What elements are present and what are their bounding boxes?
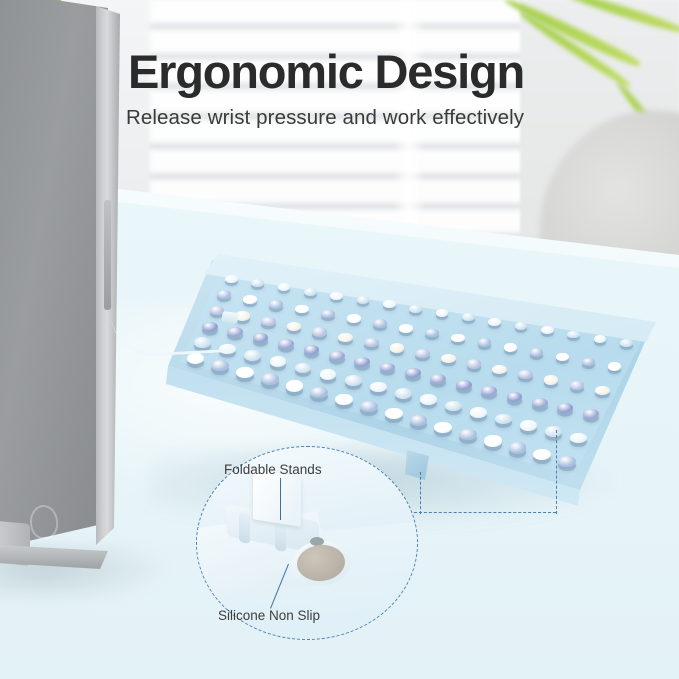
keycap-top <box>541 326 554 334</box>
keycap-top <box>544 375 559 384</box>
keycap <box>507 392 523 402</box>
monitor-vent <box>104 200 111 310</box>
keycap <box>544 375 559 384</box>
callout-stand-notch-left <box>239 512 250 544</box>
keycap-top <box>509 442 527 453</box>
keycap-top <box>594 335 607 343</box>
keycap-top <box>409 305 422 313</box>
keycap-top <box>385 408 403 419</box>
callout-label-silicone-non-slip: Silicone Non Slip <box>218 608 320 623</box>
keycap <box>532 398 548 408</box>
keycap <box>278 339 294 349</box>
keycap <box>347 314 361 323</box>
keycap-top <box>481 386 497 396</box>
keycap-top <box>211 360 229 371</box>
keycap <box>236 367 254 378</box>
keycap <box>395 388 412 399</box>
keycap-top <box>459 429 477 440</box>
keycap-top <box>261 317 276 326</box>
keycap <box>321 310 335 319</box>
keycap-top <box>518 370 533 379</box>
keycap-top <box>620 339 633 347</box>
keycap <box>434 422 452 433</box>
keycap-top <box>478 338 492 347</box>
keycap-top <box>515 322 528 330</box>
keycap <box>211 360 229 371</box>
keycap <box>518 370 533 379</box>
keycap <box>484 435 502 446</box>
product-image-scene: Ergonomic Design Release wrist pressure … <box>0 0 679 679</box>
keycap <box>364 338 379 347</box>
keycap <box>620 339 633 347</box>
keycap <box>436 309 449 317</box>
leader-line-foldable-stands <box>280 478 281 520</box>
keycap-top <box>354 357 370 367</box>
keycap <box>441 354 456 363</box>
keycap-top <box>329 351 345 361</box>
keycap-top <box>312 327 327 336</box>
keycap-top <box>470 407 487 418</box>
keycap-top <box>304 345 320 355</box>
keycap-top <box>251 279 264 287</box>
keycap <box>492 365 507 374</box>
keycap-top <box>415 349 430 358</box>
keycap <box>570 381 585 390</box>
keycap <box>399 324 413 333</box>
keycap <box>261 317 276 326</box>
keycap <box>462 313 475 321</box>
keycap-top <box>507 392 523 402</box>
keycap-top <box>570 381 585 390</box>
keycap-top <box>370 382 387 393</box>
keycap-top <box>217 290 231 299</box>
keycap-top <box>495 414 512 425</box>
keycap-top <box>462 313 475 321</box>
keycap-top <box>420 394 437 405</box>
keycap <box>251 279 264 287</box>
keycap-top <box>399 324 413 333</box>
cable-connector <box>221 311 238 324</box>
keycap-top <box>330 292 343 300</box>
keycap <box>360 401 378 412</box>
keycap <box>304 345 320 355</box>
page-subtitle: Release wrist pressure and work effectiv… <box>126 106 524 130</box>
keycap-top <box>395 388 412 399</box>
keycap <box>304 288 317 296</box>
keycap-top <box>373 319 387 328</box>
keycap-top <box>488 318 501 326</box>
keycap-top <box>236 367 254 378</box>
keycap <box>545 426 562 437</box>
foldable-stand <box>253 469 301 527</box>
keycap-top <box>244 350 261 361</box>
keycap-top <box>492 365 507 374</box>
keycap <box>595 386 610 395</box>
keycap-top <box>286 380 304 391</box>
keycap-top <box>595 386 610 395</box>
page-title: Ergonomic Design <box>128 44 524 99</box>
keycap <box>270 356 287 367</box>
keycap-top <box>243 295 257 304</box>
keycap-top <box>320 369 337 380</box>
keycap-top <box>321 310 335 319</box>
keycap <box>541 326 554 334</box>
keycap-top <box>532 398 548 408</box>
keycap <box>243 295 257 304</box>
keycap-top <box>410 415 428 426</box>
keycap-top <box>520 420 537 431</box>
keycap <box>320 369 337 380</box>
keycap-top <box>441 354 456 363</box>
keycap-top <box>261 373 279 384</box>
keycap <box>583 409 599 419</box>
keycap <box>385 408 403 419</box>
keycap-top <box>360 401 378 412</box>
keycap <box>509 442 527 453</box>
keycap-top <box>225 275 238 283</box>
keycap <box>467 359 482 368</box>
keycap <box>481 386 497 396</box>
keycap <box>515 322 528 330</box>
keycap <box>286 380 304 391</box>
keycap <box>269 300 283 309</box>
keycap-top <box>345 375 362 386</box>
keycap-top <box>467 359 482 368</box>
keycap-top <box>347 314 361 323</box>
keycap-top <box>364 338 379 347</box>
keycap-top <box>456 380 472 390</box>
keycap <box>244 350 261 361</box>
keycap <box>410 415 428 426</box>
keycap <box>488 318 501 326</box>
keycap <box>478 338 492 347</box>
keycap <box>373 319 387 328</box>
keycap <box>504 343 518 352</box>
keycap <box>594 335 607 343</box>
keycap <box>345 375 362 386</box>
keycap <box>459 429 477 440</box>
callout-stand-notch-right <box>275 520 286 552</box>
keycap <box>225 275 238 283</box>
keycap <box>370 382 387 393</box>
keycap <box>390 343 405 352</box>
keycap <box>456 380 472 390</box>
keycap <box>329 351 345 361</box>
keycap-top <box>484 435 502 446</box>
keycap <box>312 327 327 336</box>
keycap-top <box>304 288 317 296</box>
keycap-top <box>545 426 562 437</box>
keycap <box>338 333 353 342</box>
keycap-top <box>504 343 518 352</box>
keycap <box>415 349 430 358</box>
keycap-top <box>338 333 353 342</box>
keycap <box>530 348 544 357</box>
callout-label-foldable-stands: Foldable Stands <box>224 462 322 477</box>
keycap <box>330 292 343 300</box>
keycap-top <box>434 422 452 433</box>
keycap-top <box>390 343 405 352</box>
keycap-top <box>269 300 283 309</box>
keycap <box>520 420 537 431</box>
keycap-top <box>583 409 599 419</box>
keycap-top <box>270 356 287 367</box>
keycap <box>217 290 231 299</box>
keycap <box>420 394 437 405</box>
keycap <box>409 305 422 313</box>
keycap-top <box>530 348 544 357</box>
keycap <box>470 407 487 418</box>
keycap <box>495 414 512 425</box>
keycap-top <box>436 309 449 317</box>
keycap <box>261 373 279 384</box>
keycap-top <box>278 339 294 349</box>
keycap <box>354 357 370 367</box>
